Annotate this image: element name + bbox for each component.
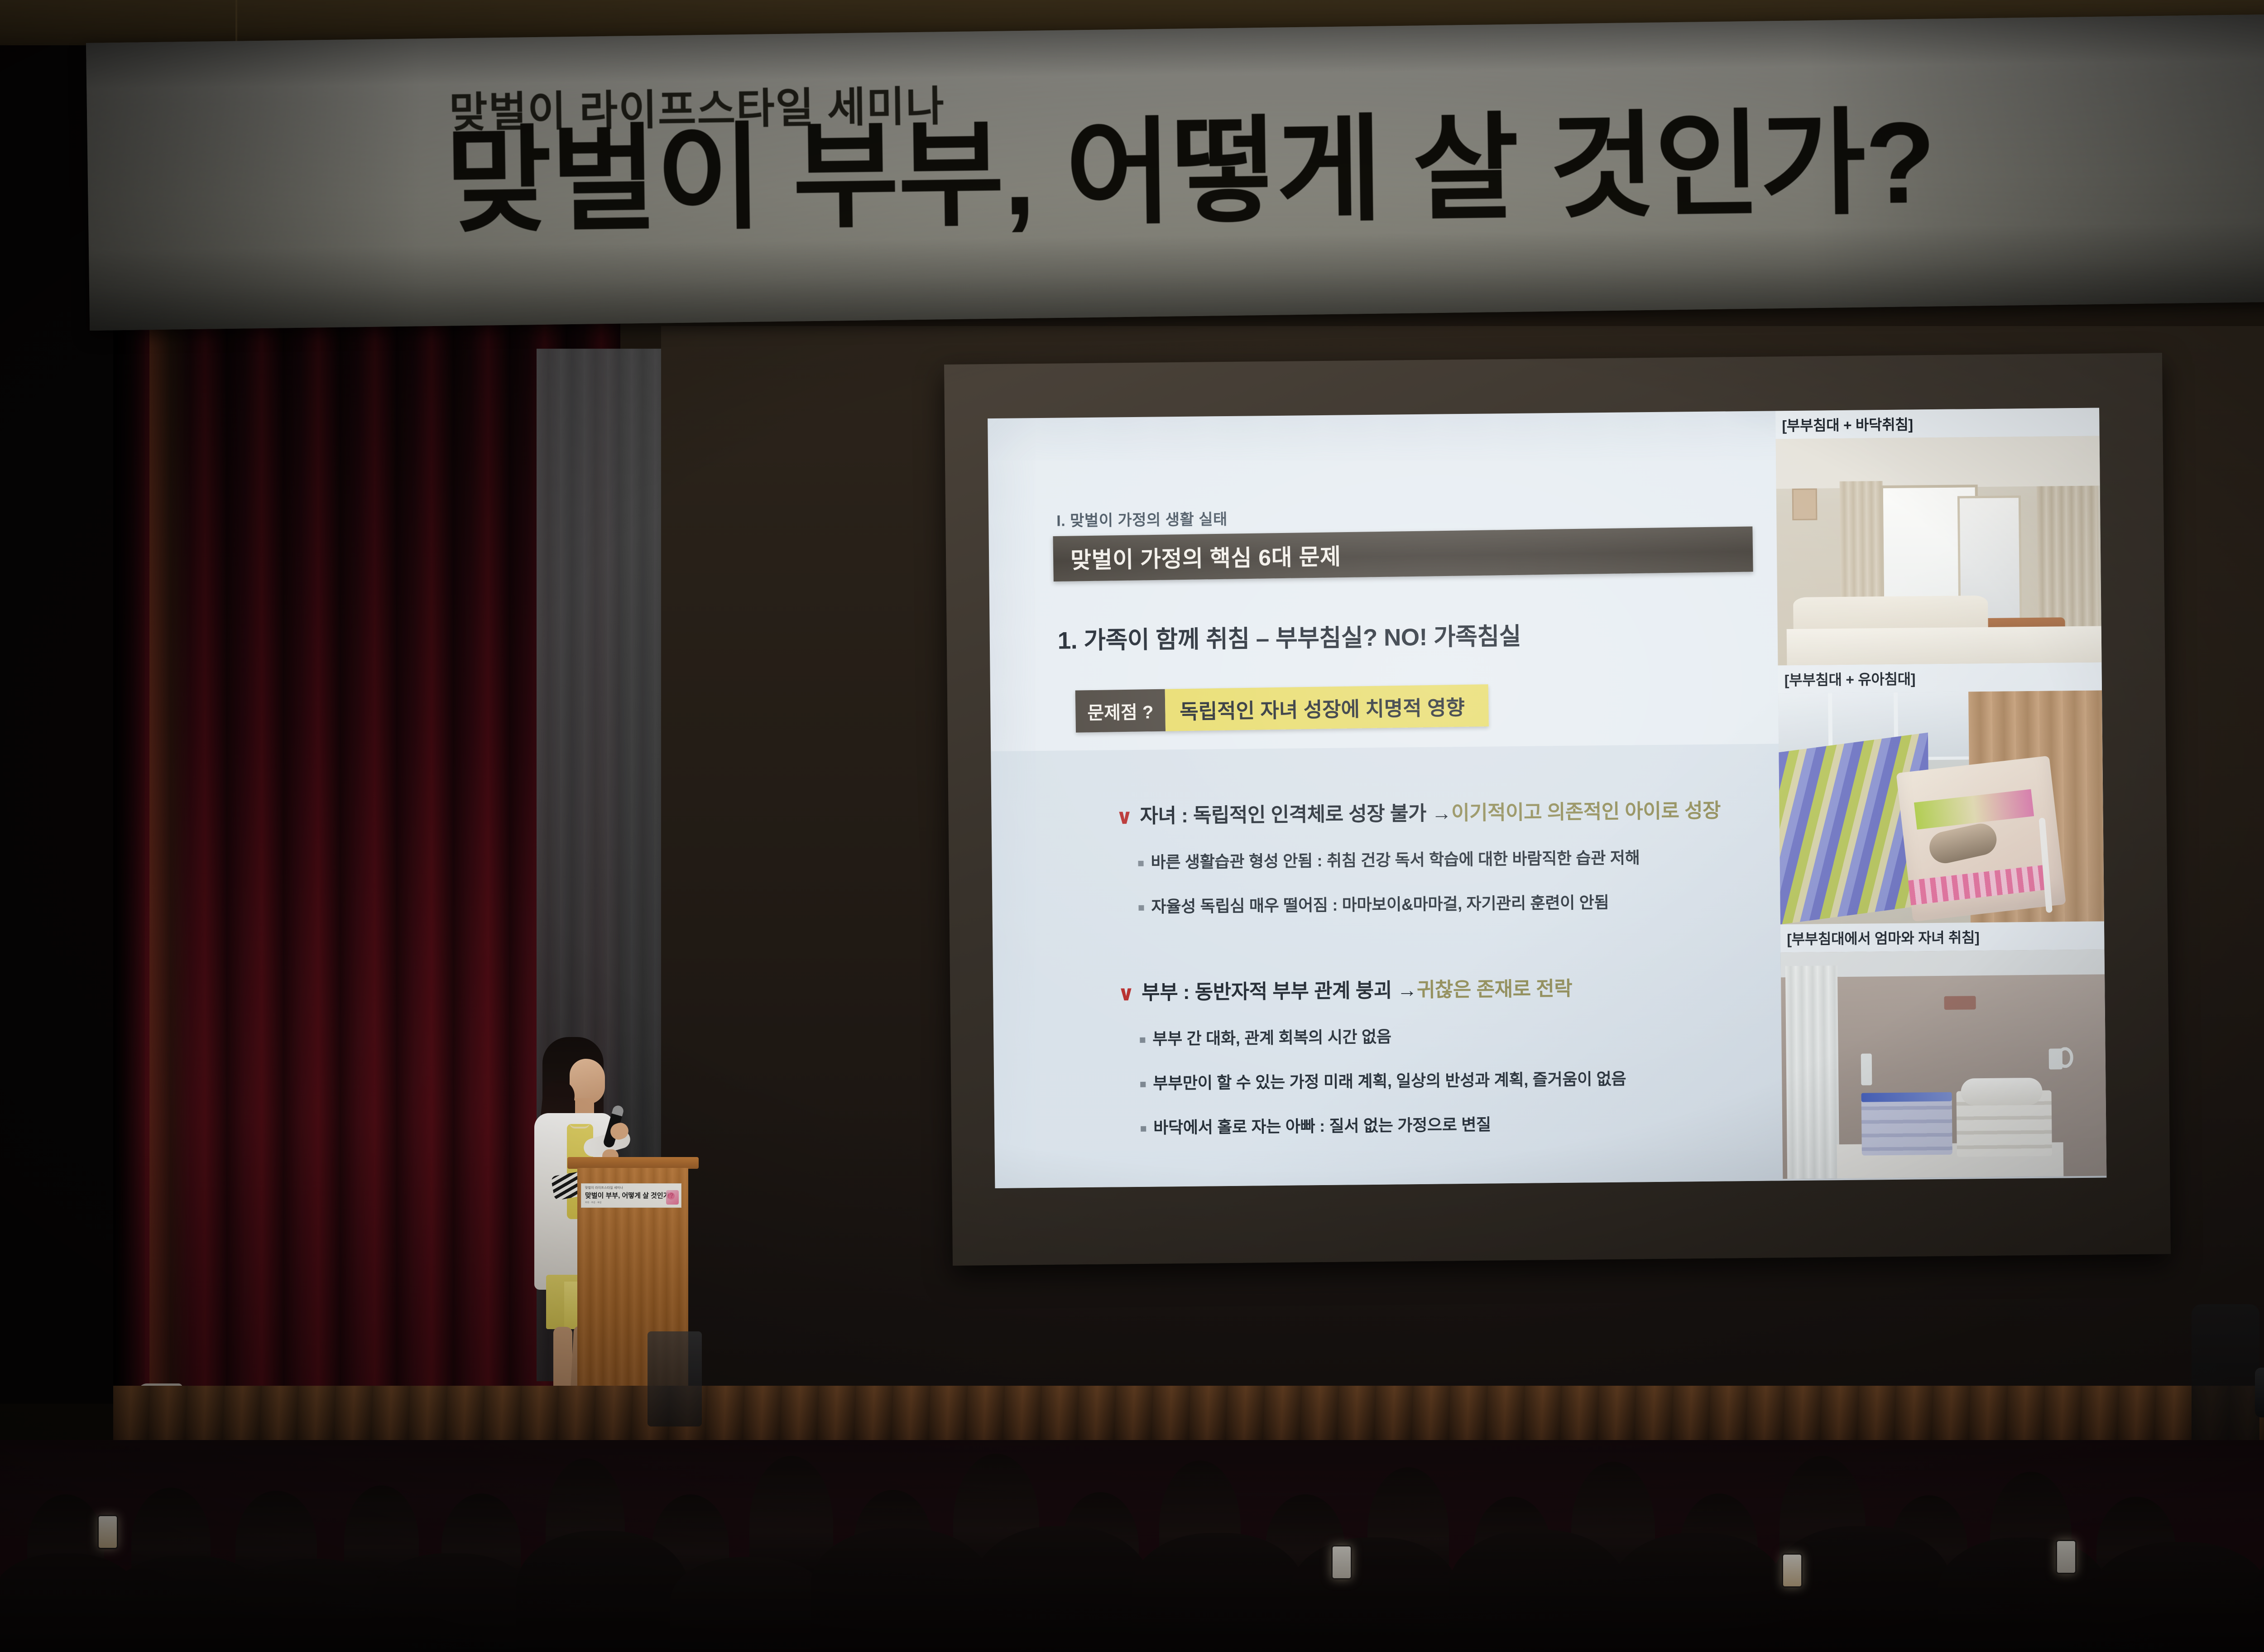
square-bullet-icon bbox=[1141, 1126, 1146, 1132]
speaker-necklace bbox=[570, 1123, 590, 1129]
bedroom-photo-3 bbox=[1781, 949, 2107, 1179]
square-bullet-icon bbox=[1140, 1082, 1146, 1087]
curtain-edge-shadow bbox=[113, 317, 145, 1431]
slide-photo-column: [부부침대 + 바닥취침] [부부침대 + 유아침대] bbox=[1775, 408, 2106, 1181]
audience-shoulders bbox=[2255, 1535, 2264, 1652]
photo3-bedding-stack-left bbox=[1861, 1096, 1952, 1156]
photo3-wall-fixture bbox=[1944, 996, 1976, 1010]
podium-sign: 맞벌이 라이프스타일 세미나 맞벌이 부부, 어떻게 살 것인가? 주최 · 주… bbox=[581, 1183, 681, 1208]
photo-caption-2: [부부침대 + 유아침대] bbox=[1778, 662, 2102, 693]
bedroom-photo-1 bbox=[1776, 436, 2102, 666]
audience-shoulders bbox=[811, 1528, 992, 1652]
sub-bullet-text: 바닥에서 홀로 자는 아빠 : 질서 없는 가정으로 변질 bbox=[1153, 1111, 1491, 1138]
sub-bullet-text: 부부 간 대화, 관계 회복의 시간 없음 bbox=[1152, 1024, 1391, 1050]
slide-breadcrumb: I. 맞벌이 가정의 생활 실태 bbox=[1056, 507, 1228, 531]
photo-caption-1: [부부침대 + 바닥취침] bbox=[1775, 408, 2100, 439]
sub-bullet: 바른 생활습관 형성 안됨 : 취침 건강 독서 학습에 대한 바람직한 습관 … bbox=[1138, 844, 1721, 873]
problem-callout: 문제점 ? 독립적인 자녀 성장에 치명적 영향 bbox=[1075, 684, 1489, 733]
photo-caption-3: [부부침대에서 엄마와 자녀 취침] bbox=[1780, 921, 2105, 952]
sub-bullet-text: 자율성 독립심 매우 떨어짐 : 마마보이&마마걸, 자기관리 훈련이 안됨 bbox=[1151, 889, 1609, 917]
auditorium-scene: 맞벌이 라이프스타일 세미나 맞벌이 부부, 어떻게 살 것인가? 주최 I. … bbox=[0, 0, 2264, 1652]
audience-shoulders bbox=[1132, 1533, 1304, 1652]
audience-shoulders bbox=[670, 1557, 829, 1652]
banner-title: 맞벌이 부부, 어떻게 살 것인가? bbox=[445, 105, 1935, 240]
stage-side-monitor bbox=[648, 1331, 702, 1426]
bedroom-photo-2 bbox=[1778, 690, 2104, 924]
photo3-curtain bbox=[1785, 965, 1840, 1179]
photo3-wall-lamp-left bbox=[1861, 1053, 1872, 1085]
presentation-slide: I. 맞벌이 가정의 생활 실태 맞벌이 가정의 핵심 6대 문제 1. 가족이… bbox=[988, 408, 2106, 1188]
bullet-block-children: ∨ 자녀 : 독립적인 인격체로 성장 불가 → 이기적이고 의존적인 아이로 … bbox=[1116, 794, 1722, 918]
sub-bullet-text: 부부만이 할 수 있는 가정 미래 계획, 일상의 반성과 계획, 즐거움이 없… bbox=[1153, 1066, 1626, 1094]
speaker-face bbox=[570, 1059, 605, 1104]
audience-shoulders bbox=[516, 1531, 688, 1652]
event-banner: 맞벌이 라이프스타일 세미나 맞벌이 부부, 어떻게 살 것인가? 주최 bbox=[86, 12, 2264, 331]
photo3-pillow-pile bbox=[1961, 1078, 2043, 1106]
audience-section bbox=[0, 1440, 2264, 1652]
slide-content-column: I. 맞벌이 가정의 생활 실태 맞벌이 가정의 핵심 6대 문제 1. 가족이… bbox=[988, 411, 1783, 1188]
photo1-wall-frame bbox=[1792, 489, 1818, 521]
curtain-light-spill bbox=[149, 317, 190, 1431]
audience-shoulders bbox=[371, 1553, 534, 1652]
photo1-floor-bedding bbox=[1787, 626, 2102, 665]
bullet-lead-accent: 이기적이고 의존적인 아이로 성장 bbox=[1451, 794, 1721, 826]
photo1-curtain-right bbox=[2037, 486, 2099, 640]
podium-sign-illustration bbox=[666, 1190, 679, 1205]
slide-section-bar: 맞벌이 가정의 핵심 6대 문제 bbox=[1053, 527, 1753, 582]
audience-phone-screen bbox=[97, 1515, 118, 1549]
podium-sign-line1: 맞벌이 라이프스타일 세미나 bbox=[585, 1186, 681, 1190]
camera-lens bbox=[2255, 1368, 2264, 1417]
slide-heading: 1. 가족이 함께 취침 – 부부침실? NO! 가족침실 bbox=[1057, 617, 1521, 656]
audience-shoulders bbox=[235, 1559, 389, 1652]
problem-tag-label: 문제점 ? bbox=[1075, 689, 1166, 733]
audience-shoulders bbox=[1290, 1537, 1458, 1652]
square-bullet-icon bbox=[1138, 861, 1144, 866]
bullet-lead-main: 자녀 : 독립적인 인격체로 성장 불가 → bbox=[1140, 797, 1451, 829]
sub-bullet-text: 바른 생활습관 형성 안됨 : 취침 건강 독서 학습에 대한 바람직한 습관 … bbox=[1151, 845, 1640, 873]
bullet-lead: ∨ 자녀 : 독립적인 인격체로 성장 불가 → 이기적이고 의존적인 아이로 … bbox=[1116, 794, 1721, 829]
audience-phone-screen bbox=[1331, 1545, 1352, 1580]
audience-shoulders bbox=[974, 1526, 1150, 1652]
photo3-wall-lamp-arm bbox=[2057, 1047, 2073, 1068]
audience-shoulders bbox=[1449, 1530, 1626, 1652]
audience-shoulders bbox=[1612, 1533, 1784, 1652]
photo1-ceiling bbox=[1776, 436, 2100, 489]
photo3-bedding-stack-top bbox=[1861, 1092, 1952, 1102]
bullet-lead-accent: 귀찮은 존재로 전락 bbox=[1417, 972, 1573, 1003]
podium-top-surface bbox=[567, 1157, 699, 1169]
audience-shoulders bbox=[1770, 1526, 1952, 1652]
audience-phone-screen bbox=[1782, 1553, 1803, 1588]
bullet-lead-main: 부부 : 동반자적 부부 관계 붕괴 → bbox=[1142, 974, 1417, 1005]
check-icon: ∨ bbox=[1116, 806, 1132, 827]
sub-bullet: 바닥에서 홀로 자는 아빠 : 질서 없는 가정으로 변질 bbox=[1141, 1110, 1627, 1138]
audience-phone-screen bbox=[2056, 1540, 2077, 1574]
audience-shoulders bbox=[1938, 1537, 2108, 1652]
sub-bullet: 부부만이 할 수 있는 가정 미래 계획, 일상의 반성과 계획, 즐거움이 없… bbox=[1140, 1066, 1626, 1094]
projection-screen-frame: I. 맞벌이 가정의 생활 실태 맞벌이 가정의 핵심 6대 문제 1. 가족이… bbox=[944, 353, 2171, 1266]
check-icon: ∨ bbox=[1118, 983, 1134, 1004]
audience-shoulders bbox=[2092, 1542, 2264, 1652]
bullet-block-couple: ∨ 부부 : 동반자적 부부 관계 붕괴 → 귀찮은 존재로 전락 부부 간 대… bbox=[1118, 972, 1626, 1139]
bullet-lead: ∨ 부부 : 동반자적 부부 관계 붕괴 → 귀찮은 존재로 전락 bbox=[1118, 972, 1626, 1006]
slide-section-bar-label: 맞벌이 가정의 핵심 6대 문제 bbox=[1070, 538, 1341, 575]
square-bullet-icon bbox=[1140, 1037, 1145, 1043]
problem-text-label: 독립적인 자녀 성장에 치명적 영향 bbox=[1165, 684, 1489, 731]
sub-bullet: 부부 간 대화, 관계 회복의 시간 없음 bbox=[1140, 1022, 1626, 1050]
square-bullet-icon bbox=[1138, 905, 1144, 911]
